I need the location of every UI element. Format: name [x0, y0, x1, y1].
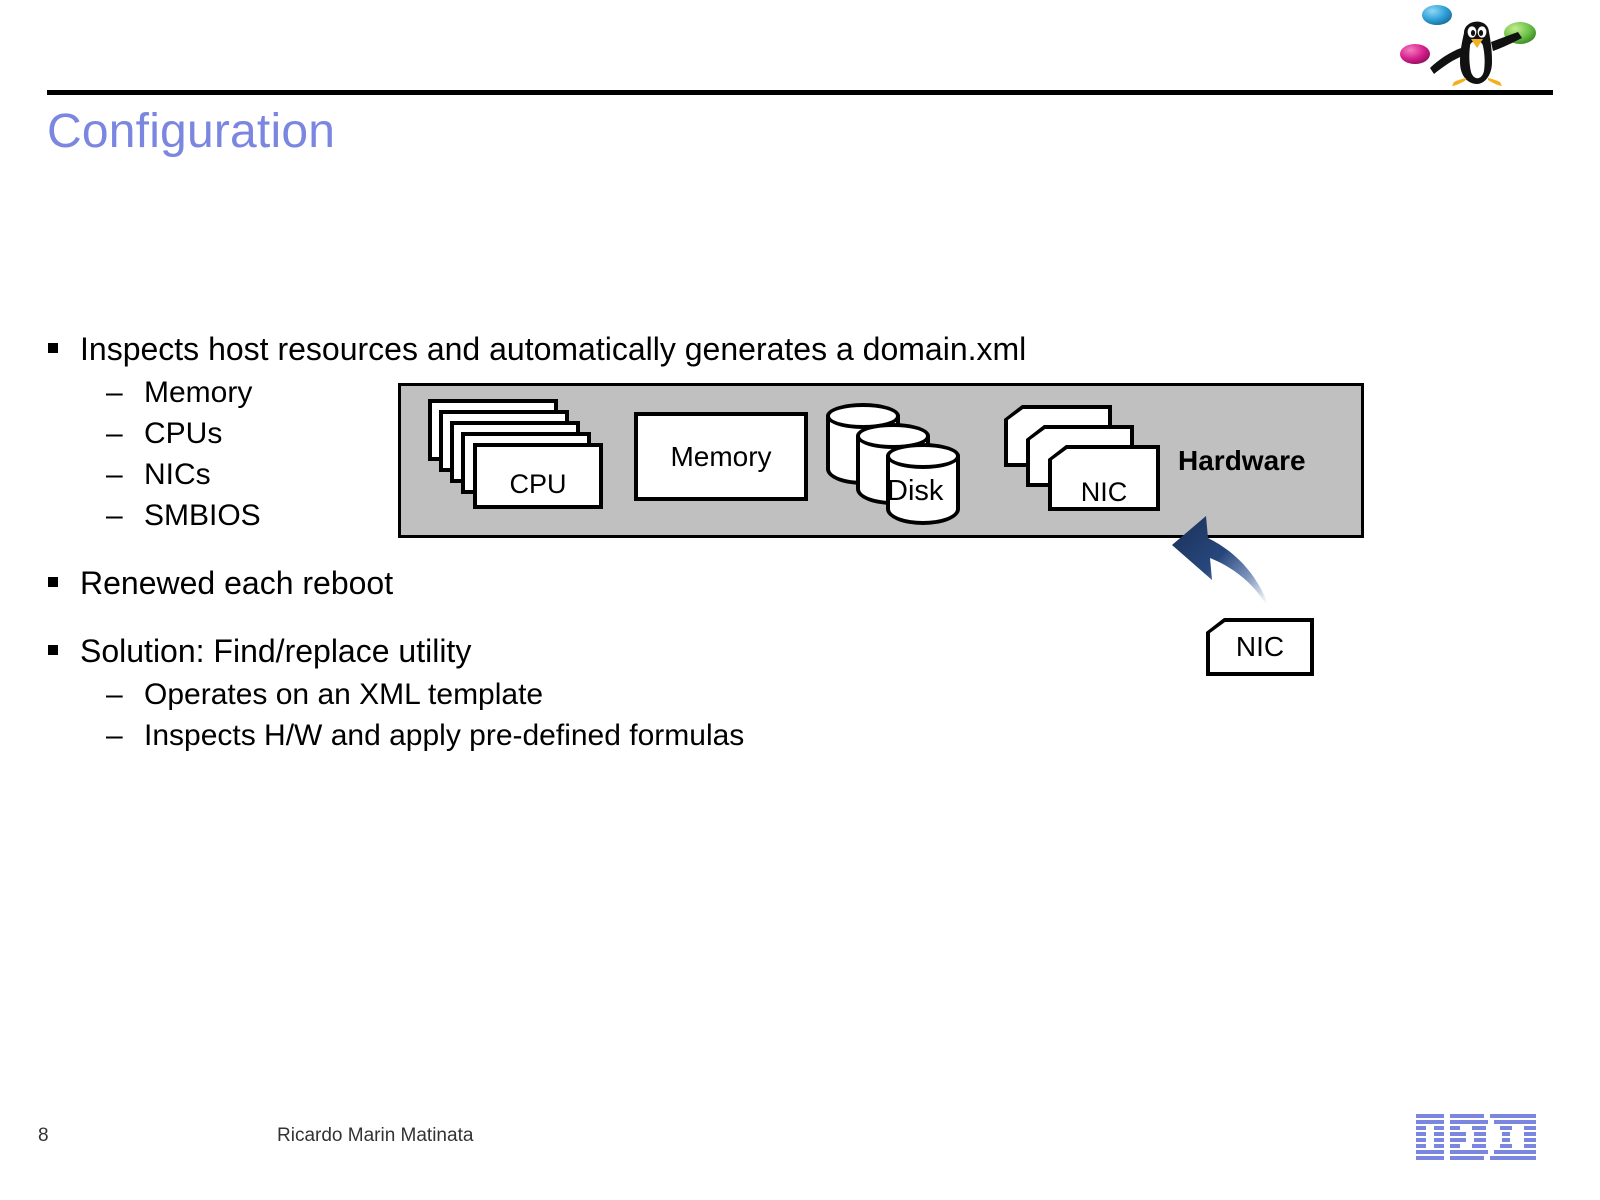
sub-bullet-list: – Operates on an XML template – Inspects… [44, 674, 944, 756]
bullet-item: Solution: Find/replace utility [44, 628, 944, 674]
dash-bullet-icon: – [106, 454, 123, 495]
nic-label: NIC [1048, 477, 1160, 507]
cpu-card-front: CPU [473, 443, 603, 509]
square-bullet-icon [48, 343, 58, 353]
bullet-item: Renewed each reboot [44, 560, 944, 606]
dash-bullet-icon: – [106, 413, 123, 454]
footer-page-number: 8 [38, 1125, 49, 1147]
sub-bullet-label: NICs [144, 458, 211, 491]
square-bullet-icon [48, 577, 58, 587]
tux-penguin-juggling-logo [1392, 2, 1552, 88]
sub-bullet-label: Operates on an XML template [144, 678, 543, 711]
external-nic-card: NIC [1206, 618, 1314, 676]
footer-author: Ricardo Marin Matinata [277, 1125, 473, 1147]
cpu-label: CPU [477, 469, 599, 499]
header-divider-rule [47, 90, 1553, 95]
sub-bullet-label: SMBIOS [144, 499, 261, 532]
bullet-label: Solution: Find/replace utility [80, 633, 471, 669]
external-nic-label: NIC [1206, 631, 1314, 663]
sub-bullet-item: – Operates on an XML template [44, 674, 944, 715]
dash-bullet-icon: – [106, 674, 123, 715]
sub-bullet-label: CPUs [144, 417, 222, 450]
juggling-ball-blue [1422, 5, 1452, 25]
memory-label: Memory [638, 441, 804, 473]
dash-bullet-icon: – [106, 715, 123, 756]
disk-label: Disk [887, 475, 943, 507]
bullet-item: Inspects host resources and automaticall… [44, 326, 944, 372]
bullet-label: Inspects host resources and automaticall… [80, 331, 1026, 367]
sub-bullet-label: Inspects H/W and apply pre-defined formu… [144, 719, 744, 752]
page-title: Configuration [47, 104, 335, 159]
hardware-label: Hardware [1178, 445, 1306, 477]
dash-bullet-icon: – [106, 495, 123, 536]
juggling-ball-pink [1400, 44, 1430, 64]
dash-bullet-icon: – [106, 372, 123, 413]
sub-bullet-item: – Inspects H/W and apply pre-defined for… [44, 715, 944, 756]
sub-bullet-label: Memory [144, 376, 252, 409]
ibm-logo [1414, 1112, 1538, 1162]
nic-card-front: NIC [1048, 445, 1160, 511]
bullet-label: Renewed each reboot [80, 565, 393, 601]
square-bullet-icon [48, 645, 58, 655]
memory-box: Memory [634, 412, 808, 501]
